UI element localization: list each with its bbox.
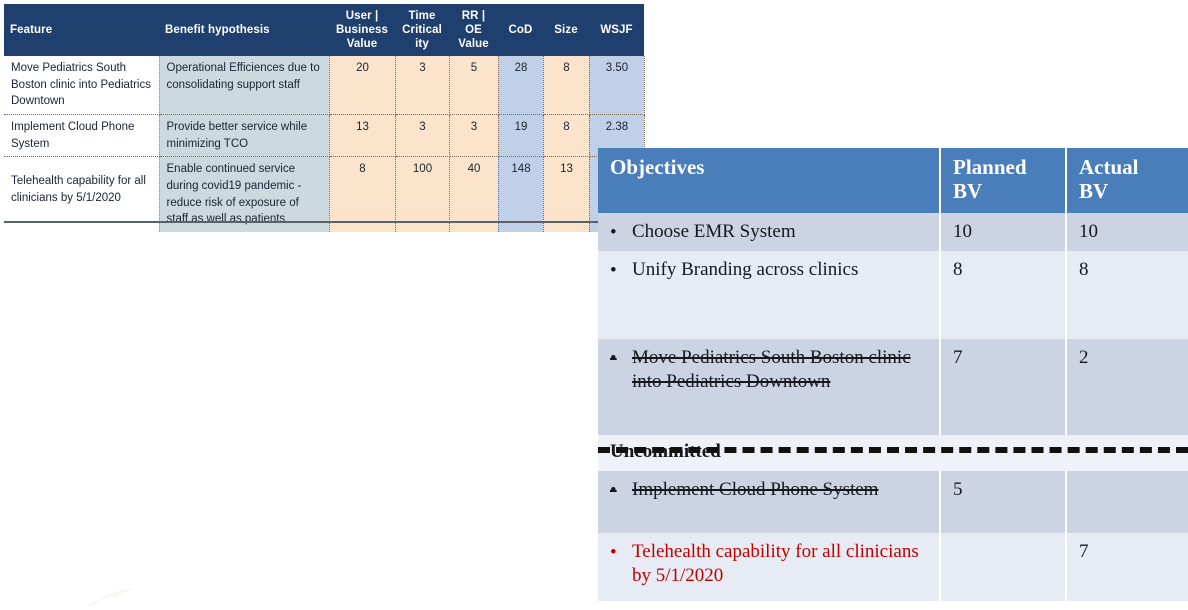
wsjf-row: Move Pediatrics South Boston clinic into… <box>4 56 644 115</box>
wsjf-table-bottom-rule <box>4 221 644 223</box>
bullet-icon: • <box>610 479 617 503</box>
objective-row: • Choose EMR System 10 10 <box>598 213 1188 251</box>
tc-line-1: Time <box>408 10 435 22</box>
wsjf-cell-user-business-value: 13 <box>329 115 395 157</box>
wsjf-col-benefit: Benefit hypothesis <box>159 4 329 56</box>
uncommitted-label: Uncommitted <box>598 435 1188 471</box>
objective-actual-bv: 10 <box>1066 213 1188 251</box>
ubv-line-2: Business <box>336 24 388 36</box>
objective-actual-bv: 2 <box>1066 339 1188 435</box>
wsjf-cell-user-business-value: 20 <box>329 56 395 115</box>
pi-objectives-table: Objectives Planned BV Actual BV • Choose… <box>598 148 1188 601</box>
wsjf-col-user-business-value: User | Business Value <box>329 4 395 56</box>
uncommitted-section-row: Uncommitted <box>598 435 1188 471</box>
wsjf-cell-benefit: Operational Efficiences due to consolida… <box>159 56 329 115</box>
objective-actual-bv: 8 <box>1066 251 1188 339</box>
wsjf-row: Implement Cloud Phone System Provide bet… <box>4 115 644 157</box>
rroe-line-1: RR | <box>462 10 485 22</box>
objective-text-cell: • Telehealth capability for all clinicia… <box>598 533 940 601</box>
objective-planned-bv: 8 <box>940 251 1066 339</box>
bullet-icon: • <box>610 221 617 245</box>
objectives-header-row: Objectives Planned BV Actual BV <box>598 148 1188 213</box>
wsjf-cell-cod: 28 <box>498 56 543 115</box>
actual-bv-line-1: Actual <box>1079 155 1139 179</box>
objective-actual-bv: 7 <box>1066 533 1188 601</box>
bullet-icon: • <box>610 347 617 371</box>
wsjf-cell-rr-oe-value: 3 <box>449 115 498 157</box>
objective-text-cell: • Unify Branding across clinics <box>598 251 940 339</box>
tc-line-3: ity <box>415 38 429 50</box>
bullet-icon: • <box>610 541 617 565</box>
ubv-line-3: Value <box>347 38 378 50</box>
wsjf-header-row: Feature Benefit hypothesis User | Busine… <box>4 4 644 56</box>
wsjf-cell-cod: 19 <box>498 115 543 157</box>
objectives-col-planned-bv: Planned BV <box>940 148 1066 213</box>
wsjf-col-rr-oe-value: RR | OE Value <box>449 4 498 56</box>
wsjf-prioritization-table: Feature Benefit hypothesis User | Busine… <box>4 4 645 232</box>
objective-actual-bv <box>1066 471 1188 533</box>
committed-uncommitted-divider <box>598 447 1188 453</box>
objective-row: • Telehealth capability for all clinicia… <box>598 533 1188 601</box>
tc-line-2: Critical <box>402 24 442 36</box>
wsjf-cell-size: 8 <box>543 56 589 115</box>
wsjf-cell-feature: Implement Cloud Phone System <box>4 115 159 157</box>
wsjf-cell-wsjf: 3.50 <box>589 56 644 115</box>
rroe-line-3: Value <box>458 38 489 50</box>
objective-planned-bv <box>940 533 1066 601</box>
wsjf-cell-size: 8 <box>543 115 589 157</box>
wsjf-cell-benefit: Provide better service while minimizing … <box>159 115 329 157</box>
planned-bv-line-2: BV <box>953 179 982 203</box>
wsjf-cell-rr-oe-value: 5 <box>449 56 498 115</box>
planned-bv-line-1: Planned <box>953 155 1027 179</box>
actual-bv-line-2: BV <box>1079 179 1108 203</box>
wsjf-col-size: Size <box>543 4 589 56</box>
objective-planned-bv: 10 <box>940 213 1066 251</box>
bullet-icon: • <box>610 259 617 283</box>
objective-row: • Move Pediatrics South Boston clinic in… <box>598 339 1188 435</box>
objective-planned-bv: 7 <box>940 339 1066 435</box>
wsjf-col-cod: CoD <box>498 4 543 56</box>
ubv-line-1: User | <box>346 10 379 22</box>
objective-label: Move Pediatrics South Boston clinic into… <box>632 347 911 392</box>
rroe-line-2: OE <box>465 24 482 36</box>
objective-label: Telehealth capability for all clinicians… <box>632 541 919 586</box>
objective-row: • Unify Branding across clinics 8 8 <box>598 251 1188 339</box>
objective-text-cell: • Implement Cloud Phone System <box>598 471 940 533</box>
objective-label: Unify Branding across clinics <box>632 259 858 280</box>
objectives-col-actual-bv: Actual BV <box>1066 148 1188 213</box>
objective-planned-bv: 5 <box>940 471 1066 533</box>
objective-label: Implement Cloud Phone System <box>632 479 878 500</box>
objective-row: • Implement Cloud Phone System 5 <box>598 471 1188 533</box>
wsjf-cell-feature: Move Pediatrics South Boston clinic into… <box>4 56 159 115</box>
wsjf-col-time-criticality: Time Critical ity <box>395 4 449 56</box>
wsjf-col-wsjf: WSJF <box>589 4 644 56</box>
objective-text-cell: • Move Pediatrics South Boston clinic in… <box>598 339 940 435</box>
objective-text-cell: • Choose EMR System <box>598 213 940 251</box>
wsjf-col-feature: Feature <box>4 4 159 56</box>
wsjf-cell-time-criticality: 3 <box>395 115 449 157</box>
objective-label: Choose EMR System <box>632 221 796 242</box>
objectives-col-objectives: Objectives <box>598 148 940 213</box>
watermark-logo-fragment <box>88 586 134 608</box>
wsjf-cell-time-criticality: 3 <box>395 56 449 115</box>
